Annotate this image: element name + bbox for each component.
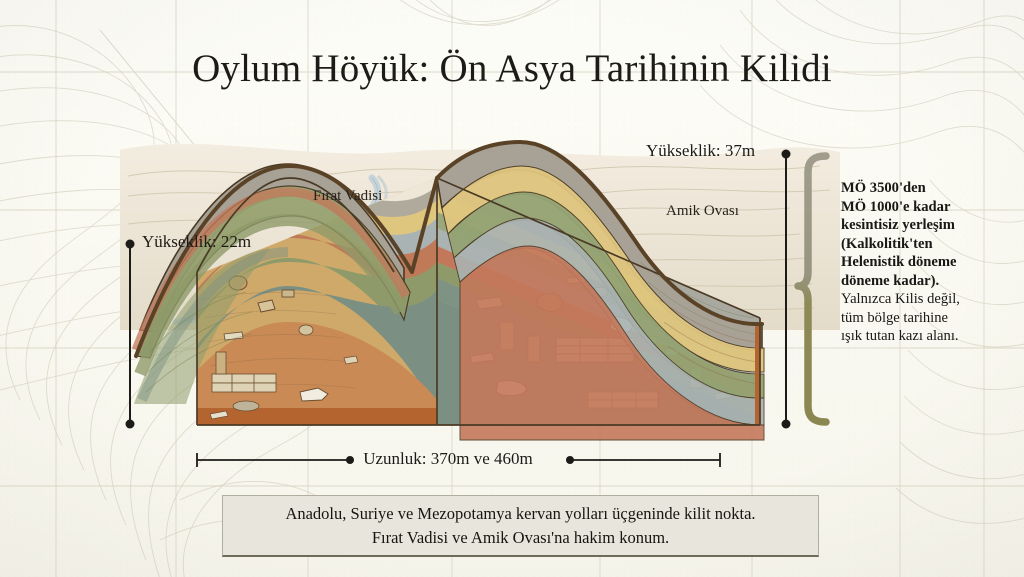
- note-bold-line: MÖ 1000'e kadar: [841, 198, 1021, 217]
- note-regular-line: Yalnızca Kilis değil,: [841, 290, 1021, 309]
- note-bold-line: Helenistik döneme: [841, 253, 1021, 272]
- note-bold-line: kesintisiz yerleşim: [841, 216, 1021, 235]
- note-bold-line: (Kalkolitik'ten: [841, 235, 1021, 254]
- note-bold-line: döneme kadar).: [841, 272, 1021, 291]
- caption-line: Anadolu, Suriye ve Mezopotamya kervan yo…: [285, 502, 755, 525]
- label-length: Uzunluk: 370m ve 460m: [0, 449, 960, 469]
- note-bold-line: MÖ 3500'den: [841, 179, 1021, 198]
- note-regular-line: ışık tutan kazı alanı.: [841, 327, 1021, 346]
- label-firat-vadisi: Fırat Vadisi: [313, 188, 382, 205]
- label-height-left: Yükseklik: 22m: [142, 232, 251, 252]
- caption-line: Fırat Vadisi ve Amik Ovası'na hakim konu…: [285, 526, 755, 549]
- label-height-right: Yükseklik: 37m: [646, 141, 755, 161]
- note-regular-line: tüm bölge tarihine: [841, 309, 1021, 328]
- infographic-canvas: Oylum Höyük: Ön Asya Tarihinin Kilidi: [0, 0, 1024, 577]
- annotation-note: MÖ 3500'den MÖ 1000'e kadar kesintisiz y…: [841, 179, 1021, 346]
- label-amik-ovasi: Amik Ovası: [666, 203, 739, 220]
- caption-box: Anadolu, Suriye ve Mezopotamya kervan yo…: [222, 495, 819, 557]
